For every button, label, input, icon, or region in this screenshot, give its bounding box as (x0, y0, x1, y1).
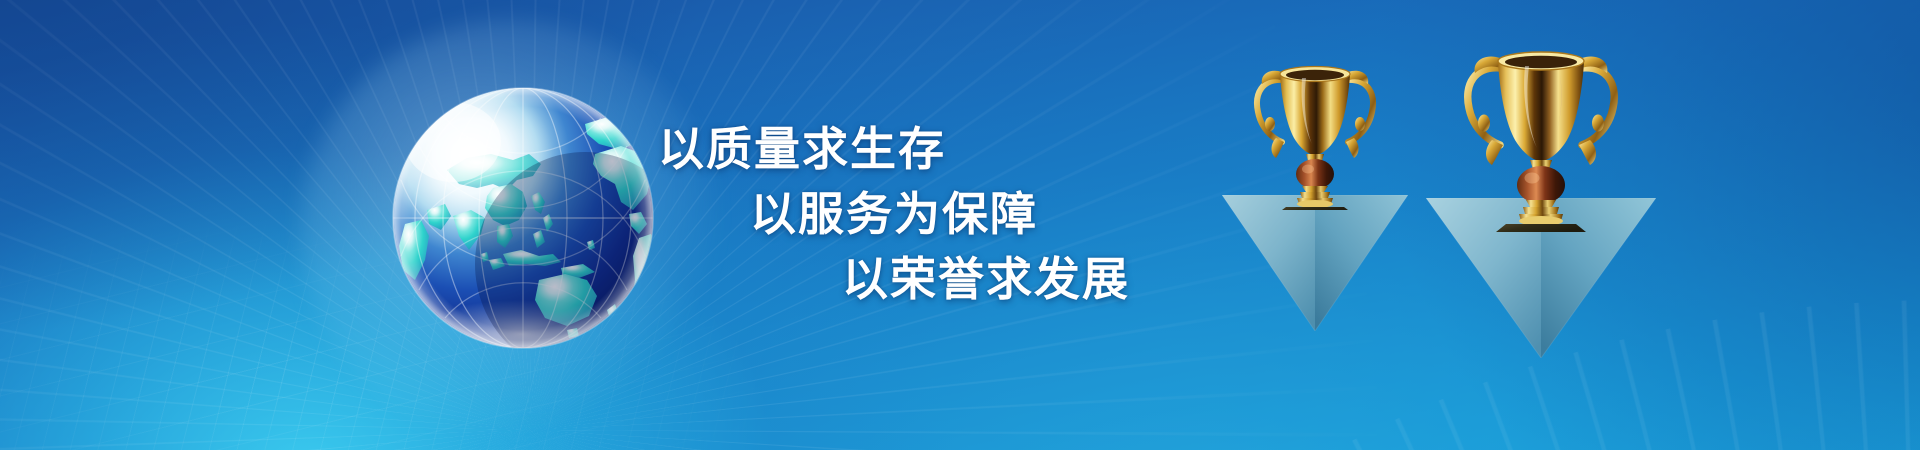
trophy-cup-large (1448, 18, 1634, 232)
trophy-cup-small (1240, 38, 1390, 210)
globe-earth-graphic (389, 84, 657, 352)
inverted-pyramid-small (1222, 195, 1408, 331)
hero-banner: 以质量求生存 以服务为保障 以荣誉求发展 (0, 0, 1920, 450)
